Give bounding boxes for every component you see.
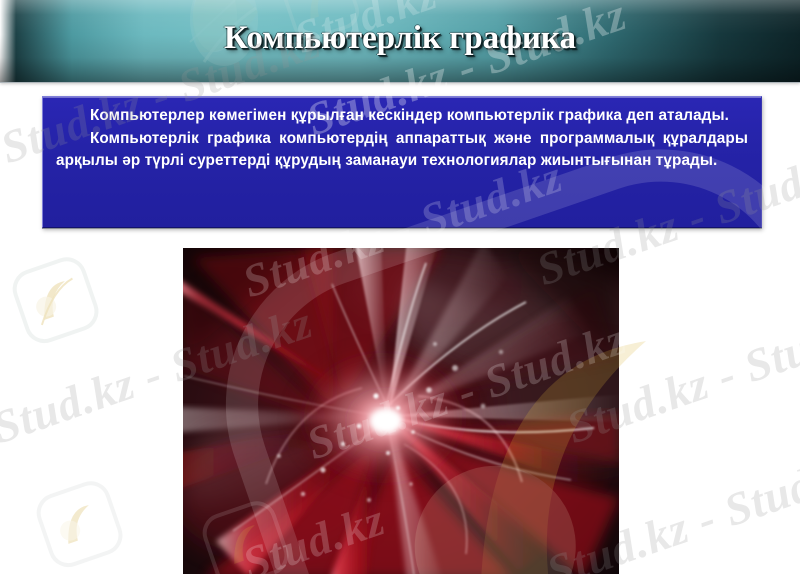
paragraph-definition-2: Компьютерлік графика компьютердің аппара… xyxy=(56,128,748,172)
paragraph-definition-1: Компьютерлер көмегімен құрылған кескінде… xyxy=(56,105,748,127)
presentation-slide: Компьютерлік графика Компьютерлер көмегі… xyxy=(0,0,800,574)
page-title: Компьютерлік графика xyxy=(0,18,800,58)
red-fractal-burst-image xyxy=(183,248,619,574)
stud-kz-logo-icon xyxy=(30,475,129,574)
definition-text-box: Компьютерлер көмегімен құрылған кескінде… xyxy=(42,96,762,228)
stud-kz-logo-icon xyxy=(6,251,105,350)
slide-title-banner: Компьютерлік графика xyxy=(0,0,800,82)
